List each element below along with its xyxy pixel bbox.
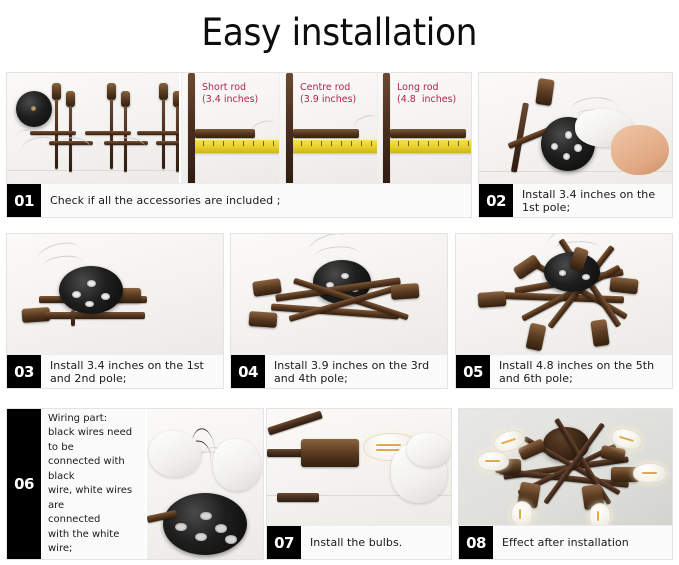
step-badge-03: 03	[7, 355, 41, 388]
rod-label-short-name: Short rod	[202, 82, 246, 93]
page-title-text: Easy installation	[202, 13, 478, 53]
step-badge-01: 01	[7, 184, 41, 217]
wiring-instructions: Wiring part: black wires need to be conn…	[41, 409, 145, 559]
step-panel-01: Short rod(3.4 inches) Centre rod(3.9 inc…	[6, 72, 472, 218]
step-caption-01: Check if all the accessories are include…	[41, 184, 471, 217]
step-badge-06: 06	[7, 409, 41, 559]
photo-accessories	[7, 73, 179, 185]
caption-bar-02: 02 Install 3.4 inches on the 1st pole;	[479, 183, 672, 217]
photo-centre-rod-measure: Centre rod(3.9 inches)	[279, 73, 377, 185]
rod-label-centre-size: (3.9 inches)	[300, 94, 356, 105]
rod-label-centre-name: Centre rod	[300, 82, 350, 93]
step-caption-02: Install 3.4 inches on the 1st pole;	[513, 184, 672, 217]
page-title: Easy installation	[0, 0, 679, 66]
photo-six-poles	[456, 234, 672, 356]
step-caption-08: Effect after installation	[493, 526, 672, 559]
photo-two-poles	[7, 234, 223, 356]
step-badge-02: 02	[479, 184, 513, 217]
step-panel-07: 07 Install the bulbs.	[266, 408, 452, 560]
tape-measure	[195, 139, 279, 153]
step-panel-02: 02 Install 3.4 inches on the 1st pole;	[478, 72, 673, 218]
step-panel-04: 04 Install 3.9 inches on the 3rd and 4th…	[230, 233, 448, 389]
step-panel-03: 03 Install 3.4 inches on the 1st and 2nd…	[6, 233, 224, 389]
rod-label-short-size: (3.4 inches)	[202, 94, 258, 105]
step-panel-05: 05 Install 4.8 inches on the 5th and 6th…	[455, 233, 673, 389]
rod-label-short: Short rod(3.4 inches)	[202, 82, 258, 105]
rod-label-long-name: Long rod	[397, 82, 439, 93]
wiring-line-4: wire, white wires are	[48, 484, 138, 513]
rod-label-long: Long rod(4.8 inches)	[397, 82, 456, 105]
rod-label-long-size: (4.8 inches)	[397, 94, 456, 105]
step-panel-08: 08 Effect after installation	[458, 408, 673, 560]
caption-bar-03: 03 Install 3.4 inches on the 1st and 2nd…	[7, 354, 223, 388]
caption-bar-08: 08 Effect after installation	[459, 525, 672, 559]
photo-short-rod-measure: Short rod(3.4 inches)	[181, 73, 279, 185]
step-caption-07: Install the bulbs.	[301, 526, 451, 559]
step-caption-04: Install 3.9 inches on the 3rd and 4th po…	[265, 355, 447, 388]
bulb-socket	[301, 439, 359, 467]
vertical-reference-rod	[188, 73, 195, 185]
step-caption-05: Install 4.8 inches on the 5th and 6th po…	[490, 355, 672, 388]
rod-label-centre: Centre rod(3.9 inches)	[300, 82, 356, 105]
step-badge-08: 08	[459, 526, 493, 559]
photo-install-bulb	[267, 409, 451, 527]
infographic-page: Easy installation	[0, 0, 679, 565]
wiring-line-3: connected with black	[48, 455, 138, 484]
photo-four-poles	[231, 234, 447, 356]
wiring-line-6: with the white wire;	[48, 528, 138, 557]
forearm	[611, 125, 669, 175]
photo-wiring	[147, 409, 264, 560]
photo-final-result	[459, 409, 672, 527]
step-badge-04: 04	[231, 355, 265, 388]
caption-bar-01: 01 Check if all the accessories are incl…	[7, 183, 471, 217]
step-caption-03: Install 3.4 inches on the 1st and 2nd po…	[41, 355, 223, 388]
step-panel-06: 06 Wiring part: black wires need to be c…	[6, 408, 264, 560]
caption-bar-04: 04 Install 3.9 inches on the 3rd and 4th…	[231, 354, 447, 388]
wiring-line-2: black wires need to be	[48, 426, 138, 455]
wiring-line-1: Wiring part:	[48, 412, 138, 427]
step-badge-07: 07	[267, 526, 301, 559]
step-badge-05: 05	[456, 355, 490, 388]
photo-install-first-pole	[479, 73, 672, 185]
caption-bar-07: 07 Install the bulbs.	[267, 525, 451, 559]
caption-bar-05: 05 Install 4.8 inches on the 5th and 6th…	[456, 354, 672, 388]
wiring-line-5: connected	[48, 513, 138, 528]
photo-long-rod-measure: Long rod(4.8 inches)	[377, 73, 472, 185]
